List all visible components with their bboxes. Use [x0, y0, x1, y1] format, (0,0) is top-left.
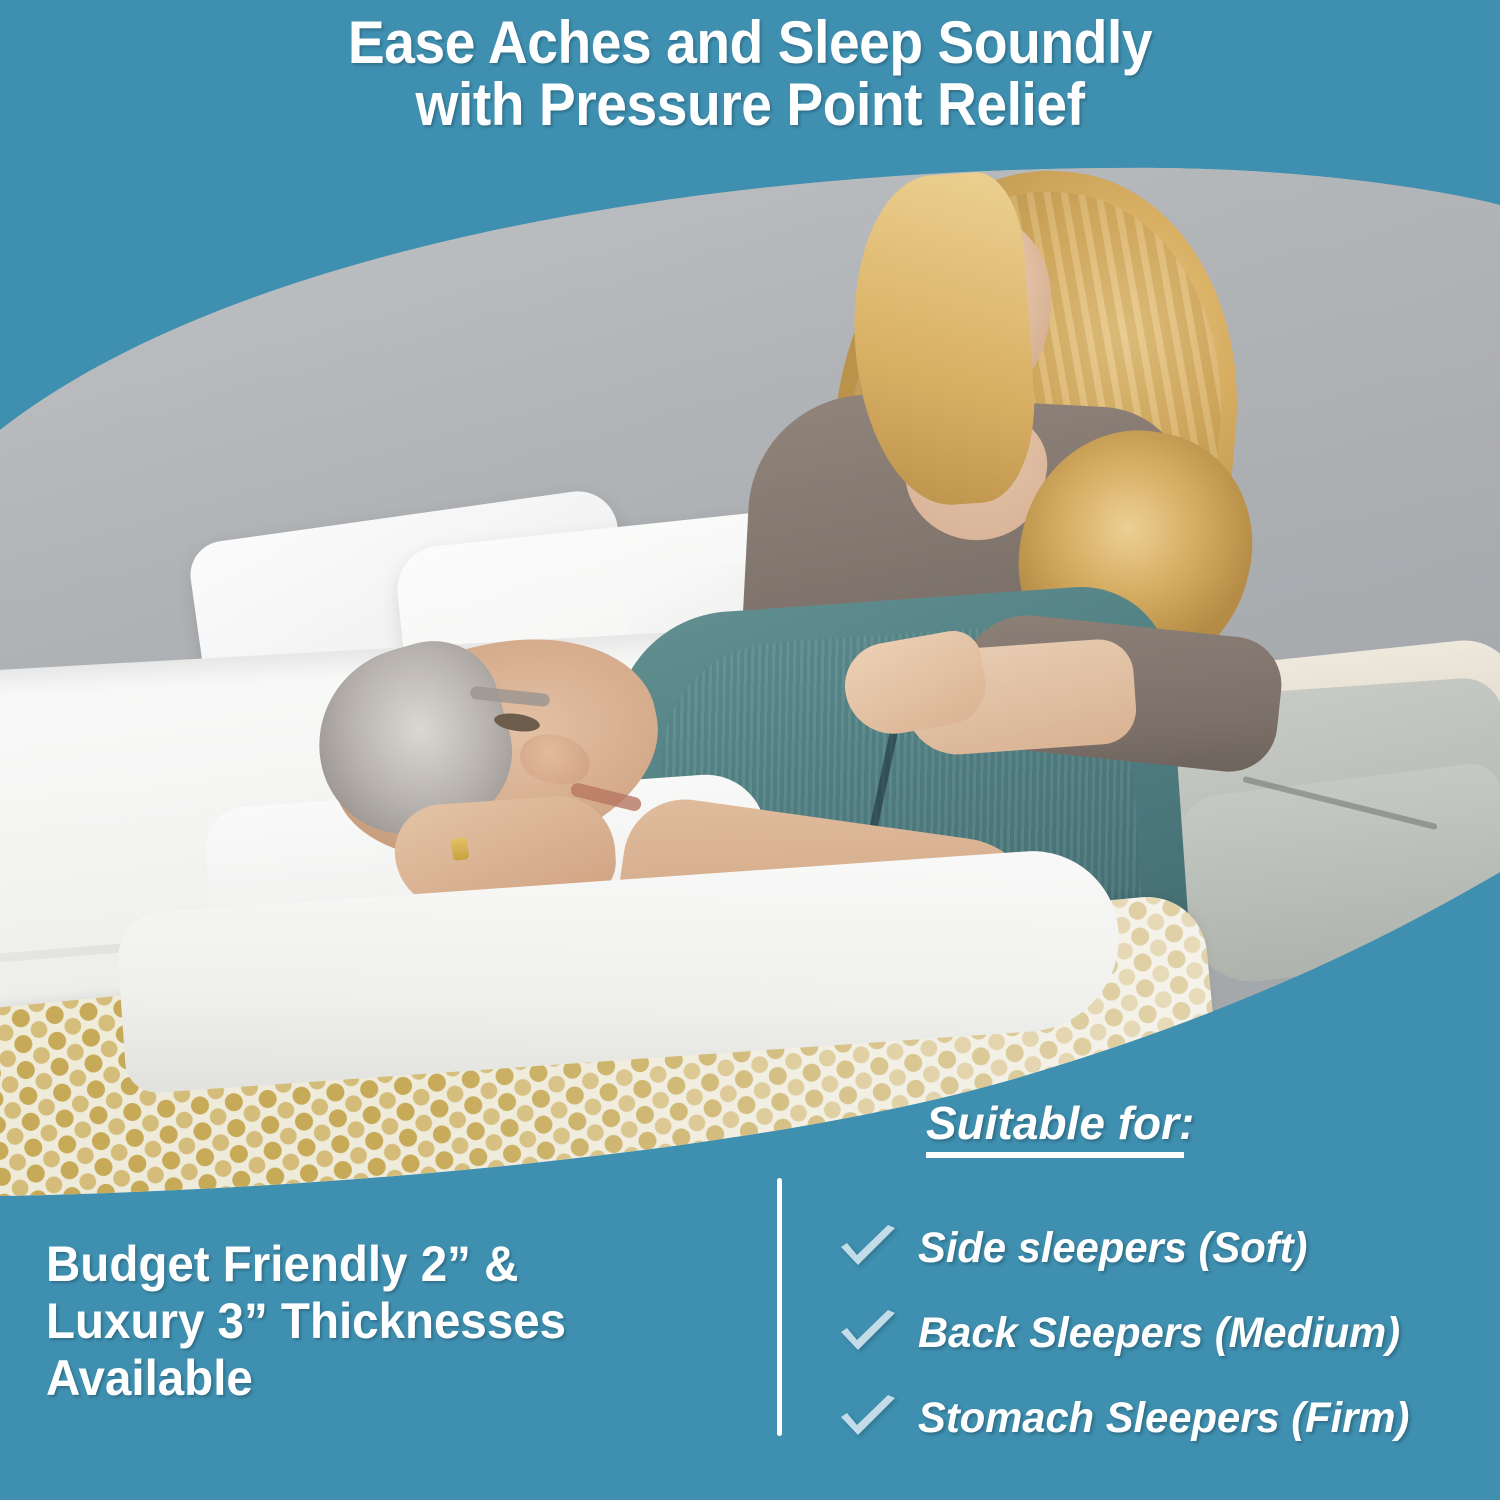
product-infographic: Ease Aches and Sleep Soundly with Pressu… [0, 0, 1500, 1500]
list-item: Side sleepers (Soft) [838, 1205, 1488, 1290]
page-title: Ease Aches and Sleep Soundly with Pressu… [60, 12, 1440, 136]
list-item: Back Sleepers (Medium) [838, 1290, 1488, 1375]
suitable-heading-underline [926, 1152, 1184, 1158]
list-item: Stomach Sleepers (Firm) [838, 1375, 1488, 1460]
list-item-label: Stomach Sleepers (Firm) [918, 1395, 1409, 1441]
vertical-divider [777, 1178, 782, 1436]
suitable-list: Side sleepers (Soft) Back Sleepers (Medi… [838, 1205, 1488, 1460]
thickness-callout: Budget Friendly 2” & Luxury 3” Thickness… [46, 1236, 711, 1407]
list-item-label: Side sleepers (Soft) [918, 1225, 1307, 1271]
suitable-heading: Suitable for: [926, 1098, 1194, 1148]
check-icon [838, 1395, 898, 1441]
wedding-ring [451, 837, 470, 861]
list-item-label: Back Sleepers (Medium) [918, 1310, 1400, 1356]
man-pants-fold [1170, 761, 1500, 990]
check-icon [838, 1310, 898, 1356]
check-icon [838, 1225, 898, 1271]
